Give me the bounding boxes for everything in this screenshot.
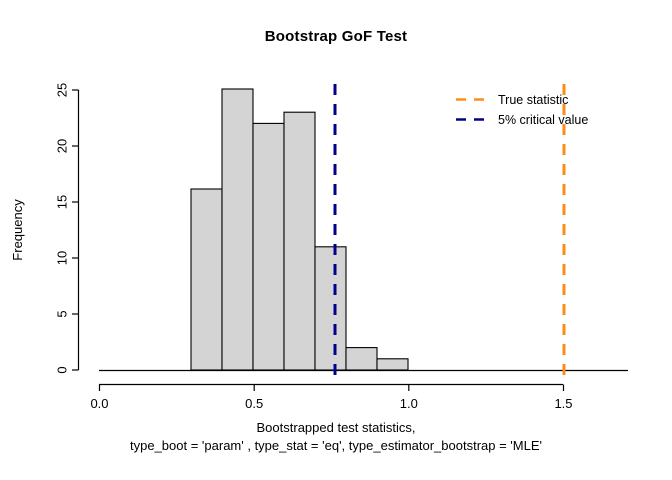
x-tick-label: 1.5 [554,396,572,411]
histogram-figure: 0 5 10 15 20 25 Frequency 0.0 0.5 1.0 1.… [0,0,672,480]
legend-label-true-statistic: True statistic [498,93,568,107]
histogram-bar [346,348,377,370]
histogram-bar [253,123,284,370]
x-tick-label: 0.5 [245,396,263,411]
y-tick-label: 15 [55,195,70,209]
y-tick-label: 5 [55,310,70,317]
y-axis-title: Frequency [10,199,25,261]
histogram-bar [315,247,346,370]
y-tick-label: 25 [55,83,70,97]
y-axis: 0 5 10 15 20 25 [55,83,79,374]
x-axis: 0.0 0.5 1.0 1.5 [90,385,572,412]
y-tick-label: 20 [55,139,70,153]
y-tick-label: 0 [55,366,70,373]
x-tick-label: 1.0 [400,396,418,411]
legend: True statistic 5% critical value [456,93,588,127]
x-tick-label: 0.0 [90,396,108,411]
y-tick-label: 10 [55,251,70,265]
histogram-bars [191,89,408,370]
x-axis-title-line2: type_boot = 'param' , type_stat = 'eq', … [130,438,542,453]
x-axis-title-line1: Bootstrapped test statistics, [257,420,416,435]
r-plot-canvas: Bootstrap GoF Test 0 5 10 [0,0,672,480]
histogram-bar [377,359,408,370]
histogram-bar [191,189,222,370]
histogram-bar [222,89,253,370]
legend-label-critical-value: 5% critical value [498,113,588,127]
histogram-bar [284,112,315,370]
